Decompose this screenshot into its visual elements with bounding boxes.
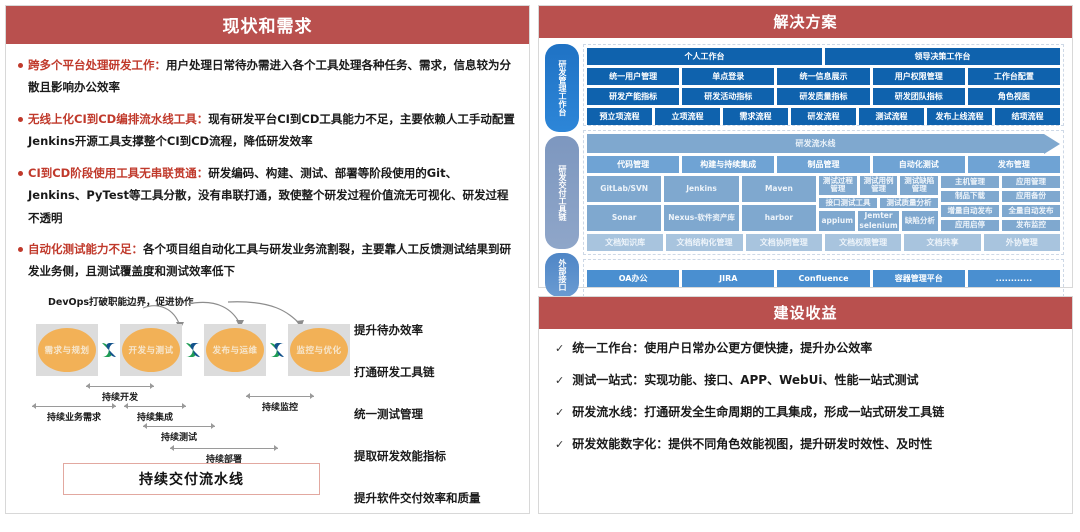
layer-label-toolchain: 研发交付工具链 [545,136,579,249]
bullet-dot-icon [18,171,23,176]
bullet-text: CI到CD阶段使用工具无串联贯通：研发编码、构建、测试、部署等阶段使用的Git、… [28,162,515,229]
tool-cell[interactable]: 测试缺陷管理 [900,176,938,195]
outcome-item: 提升软件交付效率和质量 [354,490,534,506]
bullet-highlight: 跨多个平台处理研发工作： [28,58,166,72]
workbench-cell[interactable]: 工作台配置 [968,68,1060,85]
right-column: 解决方案 研发管理工作台 研发交付工具链 外部接口 个人工作台 领导决策工作台 [538,5,1073,514]
span-label: 持续监控 [246,400,314,413]
devops-stage-row: 需求与规划 开发与测试 发布与运维 [36,324,350,376]
benefit-item: ✓ 研发效能数字化：提供不同角色效能视图，提升研发时效性、及时性 [555,437,1056,452]
bullet-text: 自动化测试能力不足：各个项目组自动化工具与研发业务流割裂，主要靠人工反馈测试结果… [28,238,515,283]
workbench-cell[interactable]: 研发质量指标 [777,88,869,105]
devops-span: 持续测试 [143,422,215,436]
tool-cell[interactable]: 缺陷分析 [902,211,938,232]
span-arrow-icon [86,386,154,387]
span-label: 持续测试 [143,430,215,443]
benefits-panel: 建设收益 ✓ 统一工作台：使用户日常办公更方便快捷，提升办公效率 ✓ 测试一站式… [538,296,1073,514]
bullet-item: 跨多个平台处理研发工作：用户处理日常待办需进入各个工具处理各种任务、需求，信息较… [18,54,515,99]
workbench-cell[interactable]: 需求流程 [723,108,788,125]
document-cell[interactable]: 文档结构化管理 [666,234,742,251]
workbench-cell[interactable]: 统一用户管理 [587,68,679,85]
external-row: OA办公 JIRA Confluence 容器管理平台 ............ [587,270,1060,287]
workbench-group: 个人工作台 领导决策工作台 统一用户管理 单点登录 统一信息展示 用户权限管理 … [583,44,1064,126]
devops-stage: 开发与测试 [120,324,182,376]
bullet-dot-icon [18,63,23,68]
workbench-row-3: 预立项流程 立项流程 需求流程 研发流程 测试流程 发布上线流程 结项流程 [587,108,1060,125]
span-arrow-icon [124,406,186,407]
infinity-link-icon [182,339,204,361]
workbench-cell[interactable]: 单点登录 [682,68,774,85]
tool-cell[interactable]: harbor [742,205,816,231]
workbench-cell[interactable]: 统一信息展示 [777,68,869,85]
tool-cell[interactable]: 应用启停 [941,220,999,232]
slide-root: 现状和需求 跨多个平台处理研发工作：用户处理日常待办需进入各个工具处理各种任务、… [0,0,1080,519]
pipeline-stage-row: 代码管理 构建与持续集成 制品管理 自动化测试 发布管理 [587,156,1060,173]
bullet-dot-icon [18,117,23,122]
bullet-highlight: CI到CD阶段使用工具无串联贯通： [28,166,208,180]
tool-column-deploy: 主机管理 应用管理 制品下载 应用备份 增量自动发布 全量自动发布 [941,176,1060,231]
benefit-item: ✓ 测试一站式：实现功能、接口、APP、WebUi、性能一站式测试 [555,373,1056,388]
workbench-cell[interactable]: 个人工作台 [587,48,822,65]
workbench-row-2: 研发产能指标 研发活动指标 研发质量指标 研发团队指标 角色视图 [587,88,1060,105]
solution-panel: 解决方案 研发管理工作台 研发交付工具链 外部接口 个人工作台 领导决策工作台 [538,5,1073,288]
tool-cell[interactable]: Jenkins [664,176,738,202]
deploy-row-4: 应用启停 发布监控 [941,220,1060,232]
outcome-item: 提取研发效能指标 [354,448,534,464]
tool-cell[interactable]: 发布监控 [1002,220,1060,232]
bullet-dot-icon [18,247,23,252]
tool-cell[interactable]: Sonar [587,205,661,231]
tool-cell[interactable]: 接口测试工具 [819,198,877,208]
check-icon: ✓ [555,342,564,355]
tool-cell[interactable]: selenium [858,221,898,231]
tool-cell[interactable]: 应用备份 [1002,191,1060,203]
document-cell[interactable]: 文档协同管理 [746,234,822,251]
benefits-title: 建设收益 [539,297,1072,329]
devops-span: 持续监控 [246,392,314,406]
span-arrow-icon [246,396,314,397]
bullet-highlight: 无线上化CI到CD编排流水线工具： [28,112,208,126]
external-cell[interactable]: 容器管理平台 [873,270,965,287]
deploy-row-2: 制品下载 应用备份 [941,191,1060,203]
architecture-layer-labels: 研发管理工作台 研发交付工具链 外部接口 [545,44,579,297]
tool-cell[interactable]: Jemter [858,211,898,221]
devops-stage: 需求与规划 [36,324,98,376]
devops-span: 持续业务需求 [32,402,116,416]
workbench-cell[interactable]: 立项流程 [655,108,720,125]
solution-title: 解决方案 [539,6,1072,38]
workbench-cell[interactable]: 研发流程 [791,108,856,125]
bullet-text: 无线上化CI到CD编排流水线工具：现有研发平台CI到CD工具能力不足，主要依赖人… [28,108,515,153]
continuous-delivery-box: 持续交付流水线 [63,463,320,495]
check-icon: ✓ [555,374,564,387]
benefit-text: 测试一站式：实现功能、接口、APP、WebUi、性能一站式测试 [572,373,918,388]
tool-column-build: Jenkins Nexus-软件资产库 [664,176,738,231]
tool-cell[interactable]: 增量自动发布 [941,205,999,217]
devops-stage-label: 发布与运维 [206,328,264,372]
outcome-item: 提升待办效率 [354,322,534,338]
outcome-list: 提升待办效率 打通研发工具链 统一测试管理 提取研发效能指标 提升软件交付效率和… [354,322,534,532]
workbench-cell[interactable]: 研发团队指标 [873,88,965,105]
pipeline-banner: 研发流水线 [587,134,1044,153]
workbench-cell[interactable]: 研发活动指标 [682,88,774,105]
current-state-body: 跨多个平台处理研发工作：用户处理日常待办需进入各个工具处理各种任务、需求，信息较… [6,44,529,513]
external-cell[interactable]: OA办公 [587,270,679,287]
deploy-row-3: 增量自动发布 全量自动发布 [941,205,1060,217]
pipeline-stage[interactable]: 制品管理 [777,156,869,173]
devops-span: 持续开发 [86,382,154,396]
devops-stage-label: 需求与规划 [38,328,96,372]
span-arrow-icon [170,448,278,449]
tool-cell[interactable]: 测试用例管理 [860,176,898,195]
tool-column-code: GitLab/SVN Sonar [587,176,661,231]
test-row-3: appium Jemter selenium 缺陷分析 [819,211,938,232]
external-interface-group: OA办公 JIRA Confluence 容器管理平台 ............ [583,259,1064,297]
workbench-cell[interactable]: 角色视图 [968,88,1060,105]
benefit-text: 研发效能数字化：提供不同角色效能视图，提升研发时效性、及时性 [572,437,932,452]
infinity-link-icon [98,339,120,361]
bullet-text: 跨多个平台处理研发工作：用户处理日常待办需进入各个工具处理各种任务、需求，信息较… [28,54,515,99]
tool-cell[interactable]: 全量自动发布 [1002,205,1060,217]
workbench-top-row: 个人工作台 领导决策工作台 [587,48,1060,65]
document-cell[interactable]: 文档知识库 [587,234,663,251]
solution-architecture-diagram: 研发管理工作台 研发交付工具链 外部接口 个人工作台 领导决策工作台 统一用户管… [539,38,1072,303]
document-row: 文档知识库 文档结构化管理 文档协同管理 文档权限管理 文档共享 外协管理 [587,234,1060,251]
external-cell[interactable]: ............ [968,270,1060,287]
tool-columns: GitLab/SVN Sonar Jenkins Nexus-软件资产库 Mav… [587,176,1060,231]
tool-column-test: 测试过程管理 测试用例管理 测试缺陷管理 接口测试工具 测试质量分析 appiu… [819,176,938,231]
bullet-item: CI到CD阶段使用工具无串联贯通：研发编码、构建、测试、部署等阶段使用的Git、… [18,162,515,229]
check-icon: ✓ [555,438,564,451]
test-row-2: 接口测试工具 测试质量分析 [819,198,938,208]
bullet-item: 无线上化CI到CD编排流水线工具：现有研发平台CI到CD工具能力不足，主要依赖人… [18,108,515,153]
document-cell[interactable]: 文档权限管理 [825,234,901,251]
outcome-item: 统一测试管理 [354,406,534,422]
workbench-cell[interactable]: 预立项流程 [587,108,652,125]
pipeline-stage[interactable]: 发布管理 [968,156,1060,173]
benefit-item: ✓ 统一工作台：使用户日常办公更方便快捷，提升办公效率 [555,341,1056,356]
benefits-body: ✓ 统一工作台：使用户日常办公更方便快捷，提升办公效率 ✓ 测试一站式：实现功能… [539,329,1072,513]
layer-label-workbench: 研发管理工作台 [545,44,579,132]
external-cell[interactable]: JIRA [682,270,774,287]
tool-cell[interactable]: Nexus-软件资产库 [664,205,738,231]
tool-cell[interactable]: GitLab/SVN [587,176,661,202]
workbench-cell[interactable]: 结项流程 [995,108,1060,125]
bullet-highlight: 自动化测试能力不足： [28,242,143,256]
check-icon: ✓ [555,406,564,419]
tool-cell[interactable]: 测试过程管理 [819,176,857,195]
pipeline-stage[interactable]: 构建与持续集成 [682,156,774,173]
benefit-text: 统一工作台：使用户日常办公更方便快捷，提升办公效率 [572,341,872,356]
tool-column-artifact: Maven harbor [742,176,816,231]
workbench-row-1: 统一用户管理 单点登录 统一信息展示 用户权限管理 工作台配置 [587,68,1060,85]
benefit-text: 研发流水线：打通研发全生命周期的工具集成，形成一站式研发工具链 [572,405,944,420]
layer-label-external: 外部接口 [545,253,579,297]
devops-stage: 监控与优化 [288,324,350,376]
span-arrow-icon [143,426,215,427]
current-state-panel: 现状和需求 跨多个平台处理研发工作：用户处理日常待办需进入各个工具处理各种任务、… [5,5,530,514]
tool-cell[interactable]: 测试质量分析 [880,198,938,208]
workbench-cell[interactable]: 测试流程 [859,108,924,125]
workbench-cell[interactable]: 发布上线流程 [927,108,992,125]
workbench-cell[interactable]: 研发产能指标 [587,88,679,105]
devops-span: 持续部署 [170,444,278,458]
deploy-row-1: 主机管理 应用管理 [941,176,1060,188]
pipeline-stage[interactable]: 代码管理 [587,156,679,173]
tool-cell[interactable]: appium [819,211,855,232]
tool-cell[interactable]: Maven [742,176,816,202]
infinity-link-icon [266,339,288,361]
architecture-groups: 个人工作台 领导决策工作台 统一用户管理 单点登录 统一信息展示 用户权限管理 … [583,44,1064,297]
external-cell[interactable]: Confluence [777,270,869,287]
test-row-1: 测试过程管理 测试用例管理 测试缺陷管理 [819,176,938,195]
document-cell[interactable]: 外协管理 [984,234,1060,251]
devops-diagram: DevOps打破职能边界，促进协作 需求与规划 [18,292,515,497]
tool-cell[interactable]: 应用管理 [1002,176,1060,188]
devops-span: 持续集成 [124,402,186,416]
workbench-cell[interactable]: 领导决策工作台 [825,48,1060,65]
workbench-cell[interactable]: 用户权限管理 [873,68,965,85]
benefit-item: ✓ 研发流水线：打通研发全生命周期的工具集成，形成一站式研发工具链 [555,405,1056,420]
tool-cell[interactable]: 制品下载 [941,191,999,203]
document-cell[interactable]: 文档共享 [904,234,980,251]
devops-stage-label: 开发与测试 [122,328,180,372]
tool-cell[interactable]: 主机管理 [941,176,999,188]
outcome-item: 打通研发工具链 [354,364,534,380]
bullet-item: 自动化测试能力不足：各个项目组自动化工具与研发业务流割裂，主要靠人工反馈测试结果… [18,238,515,283]
toolchain-group: 研发流水线 代码管理 构建与持续集成 制品管理 自动化测试 发布管理 GitLa… [583,130,1064,255]
left-column: 现状和需求 跨多个平台处理研发工作：用户处理日常待办需进入各个工具处理各种任务、… [5,5,530,514]
devops-stage: 发布与运维 [204,324,266,376]
span-label: 持续业务需求 [32,410,116,423]
test-subgroup: Jemter selenium [858,211,898,232]
pipeline-stage[interactable]: 自动化测试 [873,156,965,173]
devops-stage-label: 监控与优化 [290,328,348,372]
span-arrow-icon [32,406,116,407]
current-state-title: 现状和需求 [6,6,529,44]
